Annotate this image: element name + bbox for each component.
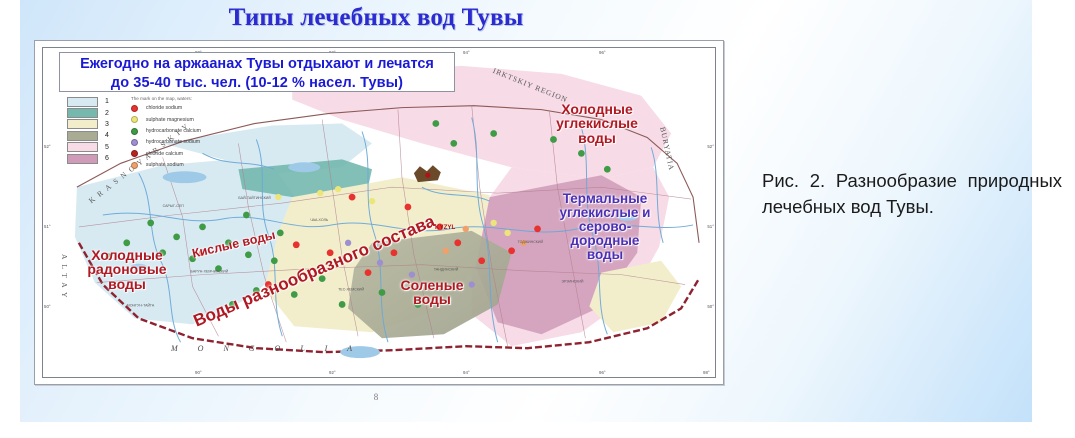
graticule-right-52: 51° (707, 224, 714, 229)
graticule-bottom-92: 92° (329, 370, 336, 375)
annotation-cold-carbonic: Холодные углекислые воды (535, 102, 659, 145)
annotation-line: углекислые (535, 116, 659, 130)
graticule-bottom-90: 90° (195, 370, 202, 375)
legend-zone-number: 6 (105, 155, 109, 162)
legend-watertype-dot (131, 105, 138, 112)
svg-text:ТОДЖИНСКИЙ: ТОДЖИНСКИЙ (518, 240, 544, 244)
annotation-line: радоновые (67, 262, 187, 276)
legend-zone-swatch (67, 142, 98, 152)
legend-zone-row: 5 (67, 142, 109, 153)
legend-zone-swatch (67, 108, 98, 118)
legend-watertype-row: hydrocarbonate sodium (131, 137, 201, 148)
graticule-left-51: 50° (44, 304, 51, 309)
legend-zone-row: 6 (67, 153, 109, 164)
legend-zone-number: 4 (105, 132, 109, 139)
legend-zone-number: 2 (105, 110, 109, 117)
legend-zone-swatch (67, 131, 98, 141)
legend-caption: The mark on the map, waters: (131, 96, 201, 101)
annotation-line: Соленые (377, 278, 487, 292)
graticule-bottom-96: 96° (599, 370, 606, 375)
annotation-line: дородные (543, 234, 667, 248)
map-frame: САРЫГ-СЕП БАЙ-ТАЙГИНСКИЙ ЧАА-ХОЛЬ ТЕС-ХЕ… (42, 47, 716, 378)
svg-text:САРЫГ-СЕП: САРЫГ-СЕП (163, 204, 185, 208)
annotation-line: воды (535, 131, 659, 145)
slide-canvas: Типы лечебных вод Тувы (20, 0, 1032, 422)
legend-watertype-label: sulphate magnesium (146, 117, 194, 123)
legend-watertype-dot (131, 150, 138, 157)
graticule-right-53: 52° (707, 144, 714, 149)
city-label-kyzyl: KYZYL (435, 224, 455, 231)
graticule-right-51: 50° (707, 304, 714, 309)
legend-watertype-label: chloride sodium (146, 105, 182, 111)
annotation-salty-waters: Соленые воды (377, 278, 487, 307)
legend-zone-row: 1 (67, 96, 109, 107)
figure-caption-text: Рис. 2. Разнообразие природных лечебных … (762, 170, 1062, 217)
graticule-top-96: 96° (599, 50, 606, 55)
page-number: 8 (20, 392, 732, 402)
legend-watertype-label: hydrocarbonate sodium (146, 139, 200, 145)
annotation-line: воды (67, 277, 187, 291)
graticule-top-94: 94° (463, 50, 470, 55)
map-figure: САРЫГ-СЕП БАЙ-ТАЙГИНСКИЙ ЧАА-ХОЛЬ ТЕС-ХЕ… (34, 40, 724, 385)
graticule-left-53: 52° (44, 144, 51, 149)
legend-watertype-row: hydrocarbonate calcium (131, 125, 201, 136)
legend-zone-swatch (67, 119, 98, 129)
info-banner: Ежегодно на аржаанах Тувы отдыхают и леч… (59, 52, 455, 92)
legend-watertype-row: sulphate magnesium (131, 114, 201, 125)
legend-zone-row: 2 (67, 107, 109, 118)
legend-watertype-label: hydrocarbonate calcium (146, 128, 201, 134)
legend-zone-number: 1 (105, 98, 109, 105)
country-label-mongolia: M O N G O L I A (171, 344, 361, 353)
legend-watertype-dot (131, 116, 138, 123)
legend-zone-number: 3 (105, 121, 109, 128)
svg-text:ЧАА-ХОЛЬ: ЧАА-ХОЛЬ (310, 218, 329, 222)
svg-text:БАЙ-ТАЙГИНСКИЙ: БАЙ-ТАЙГИНСКИЙ (238, 196, 271, 200)
legend-watertype-dot (131, 139, 138, 146)
svg-text:БАРУН-ХЕМЧИКСКИЙ: БАРУН-ХЕМЧИКСКИЙ (191, 270, 229, 274)
legend-watertype-dot (131, 128, 138, 135)
legend-watertype-row: chloride calcium (131, 148, 201, 159)
svg-text:ЭРЗИНСКИЙ: ЭРЗИНСКИЙ (561, 280, 583, 284)
legend-watertype-label: sulphate sodium (146, 162, 184, 168)
annotation-line: углекислые и (543, 206, 667, 220)
legend-zone-column: 1 2 3 4 (67, 96, 109, 171)
legend-zone-row: 3 (67, 119, 109, 130)
graticule-bottom-98: 98° (703, 370, 710, 375)
svg-text:ТАНДИНСКИЙ: ТАНДИНСКИЙ (434, 268, 459, 272)
annotation-line: серово- (543, 220, 667, 234)
map-legend: 1 2 3 4 (67, 96, 201, 171)
legend-watertype-dot (131, 162, 138, 169)
legend-zone-row: 4 (67, 130, 109, 141)
legend-zone-swatch (67, 97, 98, 107)
legend-watertype-label: chloride calcium (146, 151, 183, 157)
annotation-line: воды (543, 248, 667, 262)
graticule-left-52: 51° (44, 224, 51, 229)
banner-line-2: до 35-40 тыс. чел. (10-12 % насел. Тувы) (60, 74, 454, 93)
banner-line-1: Ежегодно на аржаанах Тувы отдыхают и леч… (60, 55, 454, 74)
annotation-line: Холодные (535, 102, 659, 116)
svg-text:ТЕС-ХЕМСКИЙ: ТЕС-ХЕМСКИЙ (338, 288, 364, 292)
legend-watertype-column: The mark on the map, waters: chloride so… (131, 96, 201, 171)
graticule-bottom-94: 94° (463, 370, 470, 375)
annotation-thermal-carbonic: Термальные углекислые и серово- дородные… (543, 192, 667, 261)
page-title: Типы лечебных вод Тувы (20, 4, 732, 32)
annotation-line: Термальные (543, 192, 667, 206)
annotation-cold-radon: Холодные радоновые воды (67, 248, 187, 291)
annotation-line: воды (377, 292, 487, 306)
legend-zone-number: 5 (105, 144, 109, 151)
annotation-line: Холодные (67, 248, 187, 262)
legend-watertype-row: sulphate sodium (131, 160, 201, 171)
figure-caption: Рис. 2. Разнообразие природных лечебных … (762, 168, 1062, 220)
legend-zone-swatch (67, 154, 98, 164)
legend-watertype-row: chloride sodium (131, 103, 201, 114)
svg-text:МОНГУН-ТАЙГА: МОНГУН-ТАЙГА (127, 303, 155, 307)
